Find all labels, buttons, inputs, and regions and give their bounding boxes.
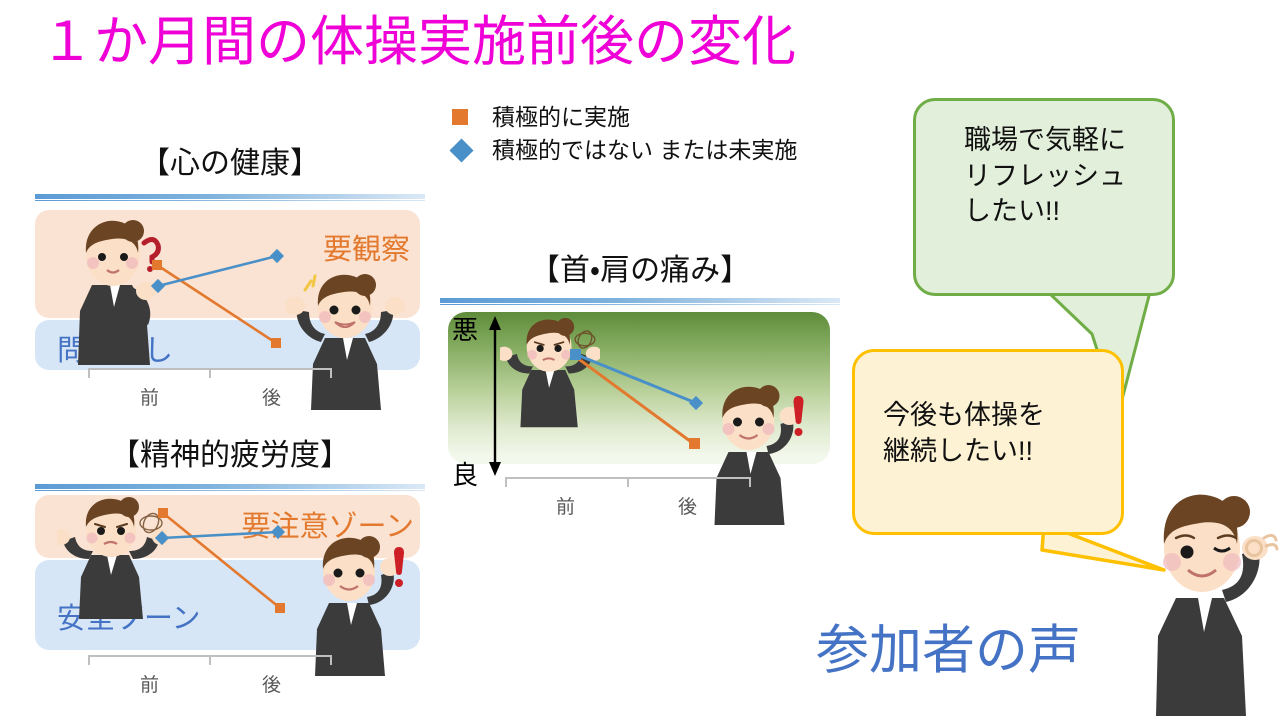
participants-voices-heading: 参加者の声: [816, 608, 1081, 684]
chart-plot-mental-health: 要観察 問題なし: [35, 210, 420, 370]
chart-series-mental-health: [35, 210, 420, 370]
series-line-inactive: [575, 354, 696, 403]
chart-title-mental-fatigue: 【精神的疲労度】: [35, 430, 425, 474]
blue-diamond-marker-icon: [452, 136, 492, 159]
point-inactive-after: [270, 249, 284, 263]
x-axis-label-1-before: 前: [140, 383, 159, 410]
x-axis-label-2-after: 後: [262, 670, 281, 697]
x-axis-label-2-before: 前: [140, 670, 159, 697]
x-axis-tick-3a: [505, 477, 507, 487]
slide-title: １か月間の体操実施前後の変化: [40, 14, 796, 71]
point-inactive-before: [570, 349, 581, 360]
chart-legend: 積極的に実施 積極的ではない または未実施: [452, 103, 797, 170]
point-active-after: [271, 338, 281, 348]
series-line-inactive: [158, 256, 277, 286]
x-axis-tick-1a: [88, 368, 90, 378]
legend-item-active: 積極的に実施: [452, 103, 797, 132]
x-axis-tick-3b: [627, 477, 629, 487]
legend-label-active: 積極的に実施: [492, 103, 630, 132]
x-axis-tick-2a: [88, 655, 90, 665]
speech-bubble-green: 職場で気軽に リフレッシュ したい!!: [913, 98, 1175, 296]
speech-bubble-yellow: 今後も体操を 継続したい!!: [852, 349, 1124, 535]
x-axis-label-3-before: 前: [556, 492, 575, 519]
chart-title-neck-pain: 【首・肩の痛み】: [440, 245, 840, 289]
point-inactive-after: [689, 396, 703, 410]
speech-bubble-green-text: 職場で気軽に リフレッシュ したい!!: [916, 101, 1172, 230]
x-axis-tick-3c: [749, 477, 751, 487]
x-axis-tick-2c: [330, 655, 332, 665]
x-axis-label-3-after: 後: [678, 492, 697, 519]
divider-rule-1: [35, 194, 425, 201]
point-active-before: [152, 260, 162, 270]
x-axis-label-1-after: 後: [262, 383, 281, 410]
series-line-active: [157, 265, 276, 343]
chart-series-mental-fatigue: [35, 495, 420, 650]
x-axis-tick-1b: [209, 368, 211, 378]
series-line-inactive: [162, 532, 278, 538]
point-active-after: [275, 603, 285, 613]
point-inactive-before: [155, 531, 169, 545]
legend-item-inactive: 積極的ではない または未実施: [452, 136, 797, 165]
speech-bubble-yellow-text: 今後も体操を 継続したい!!: [855, 352, 1121, 469]
chart-title-mental-health: 【心の健康】: [35, 138, 425, 182]
x-axis-tick-1c: [330, 368, 332, 378]
divider-rule-3: [440, 298, 840, 305]
divider-rule-2: [35, 484, 425, 491]
chart-plot-mental-fatigue: 要注意ゾーン 安全ゾーン: [35, 495, 420, 650]
series-line-active: [576, 357, 694, 444]
x-axis-tick-2b: [209, 655, 211, 665]
point-active-before: [158, 508, 168, 518]
slide-canvas: １か月間の体操実施前後の変化 積極的に実施 積極的ではない または未実施 【心の…: [0, 0, 1280, 720]
point-inactive-before: [151, 279, 165, 293]
series-line-active: [163, 513, 280, 608]
chart-series-neck-pain: [448, 312, 830, 464]
person-ok-sign-illustration: [1130, 486, 1280, 720]
orange-square-marker-icon: [452, 103, 492, 125]
point-inactive-after: [271, 525, 285, 539]
legend-label-inactive: 積極的ではない または未実施: [492, 136, 797, 165]
point-active-after: [689, 438, 700, 449]
